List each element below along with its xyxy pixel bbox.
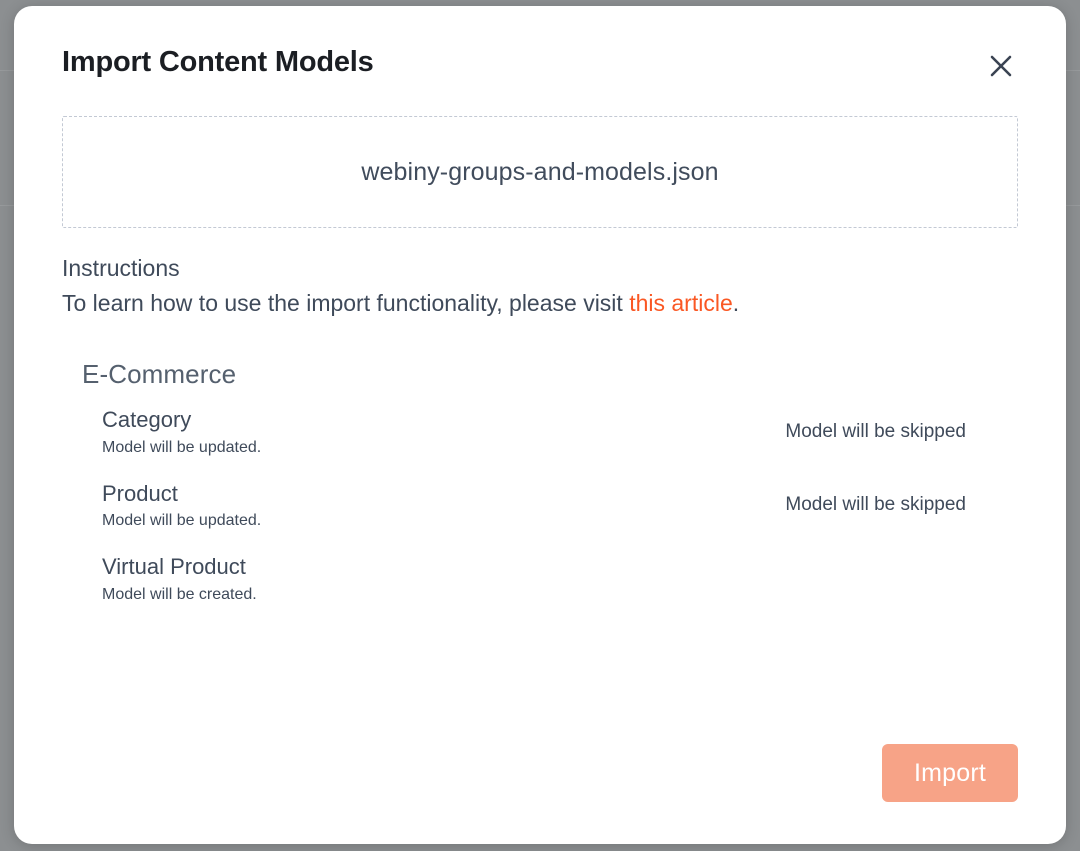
model-name: Virtual Product	[102, 553, 257, 581]
model-info: Category Model will be updated.	[102, 406, 261, 458]
status-badge: Model will be skipped	[785, 494, 1018, 516]
dialog-footer: Import	[48, 744, 1032, 844]
model-name: Category	[102, 406, 261, 434]
import-button[interactable]: Import	[882, 744, 1018, 802]
instructions-body: To learn how to use the import functiona…	[62, 284, 1018, 323]
model-groups-list: E-Commerce Category Model will be update…	[62, 359, 1018, 744]
file-dropzone[interactable]: webiny-groups-and-models.json	[62, 116, 1018, 228]
close-icon[interactable]	[984, 49, 1018, 83]
model-note: Model will be updated.	[102, 511, 261, 531]
model-info: Virtual Product Model will be created.	[102, 553, 257, 605]
model-note: Model will be created.	[102, 585, 257, 605]
model-info: Product Model will be updated.	[102, 480, 261, 532]
model-group: E-Commerce Category Model will be update…	[62, 359, 1018, 605]
model-note: Model will be updated.	[102, 438, 261, 458]
dialog-header: Import Content Models	[48, 6, 1032, 83]
model-row[interactable]: Virtual Product Model will be created.	[62, 553, 1018, 605]
instructions-text-before: To learn how to use the import functiona…	[62, 290, 629, 316]
page-title: Import Content Models	[48, 47, 374, 79]
instructions-text-after: .	[733, 290, 739, 316]
selected-filename: webiny-groups-and-models.json	[361, 158, 718, 187]
instructions-section: Instructions To learn how to use the imp…	[62, 253, 1018, 323]
instructions-heading: Instructions	[62, 253, 1018, 284]
model-group-name: E-Commerce	[62, 359, 1018, 390]
model-row[interactable]: Category Model will be updated. Model wi…	[62, 406, 1018, 458]
status-badge: Model will be skipped	[785, 421, 1018, 443]
model-name: Product	[102, 480, 261, 508]
import-content-models-dialog: Import Content Models webiny-groups-and-…	[14, 6, 1066, 844]
this-article-link[interactable]: this article	[629, 290, 733, 316]
model-row[interactable]: Product Model will be updated. Model wil…	[62, 480, 1018, 532]
